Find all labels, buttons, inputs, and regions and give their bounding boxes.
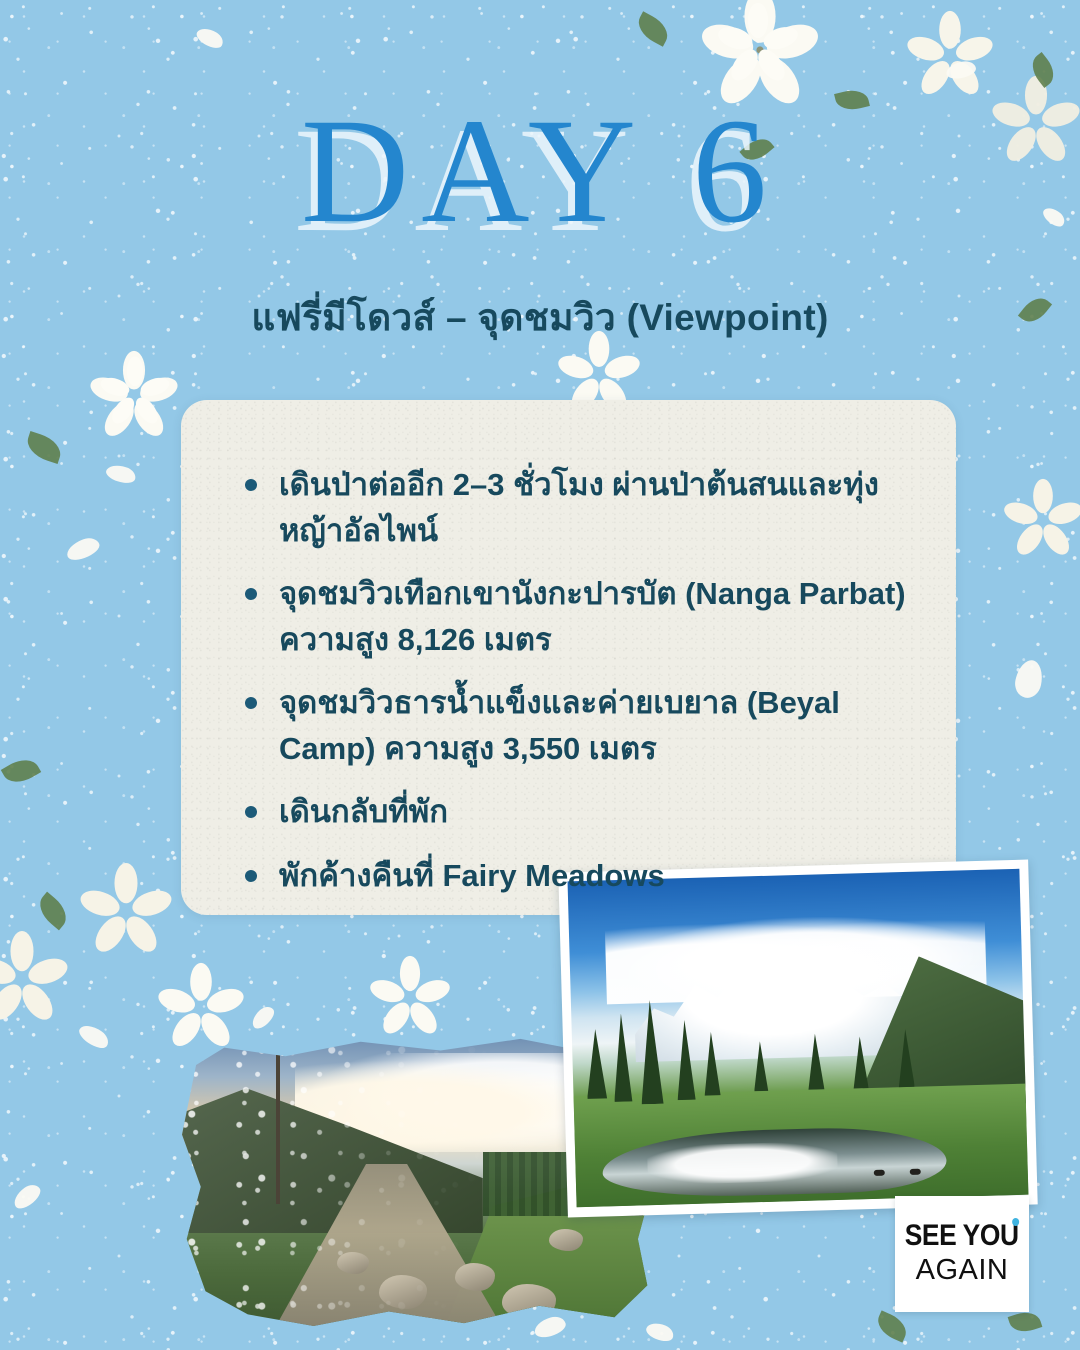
petal-icon xyxy=(248,1003,277,1032)
bare-tree xyxy=(276,1053,280,1204)
brand-logo: SEE YOU AGAIN xyxy=(895,1196,1029,1312)
petal-icon xyxy=(76,1021,112,1053)
petal-icon xyxy=(10,1181,44,1212)
petal-icon xyxy=(64,535,102,564)
leaf-icon xyxy=(1,753,41,789)
nanga-parbat-photo xyxy=(558,860,1037,1218)
grazing-animal xyxy=(874,1170,885,1176)
rock xyxy=(337,1252,369,1274)
list-item: พักค้างคืนที่ Fairy Meadows xyxy=(239,853,916,899)
accent-dot-icon xyxy=(1013,1218,1020,1226)
flower-icon xyxy=(905,10,995,100)
list-item-label: เดินป่าต่ออีก 2–3 ชั่วโมง ผ่านป่าต้นสนแล… xyxy=(279,467,879,548)
itinerary-list: เดินป่าต่ออีก 2–3 ชั่วโมง ผ่านป่าต้นสนแล… xyxy=(181,400,956,899)
flower-icon xyxy=(1002,478,1080,560)
bullet-icon xyxy=(245,870,257,882)
lake-reflection xyxy=(647,1141,838,1185)
list-item: จุดชมวิวเทือกเขานังกะปารบัต (Nanga Parba… xyxy=(239,571,916,662)
leaf-icon xyxy=(873,1310,911,1342)
flower-icon xyxy=(156,962,246,1052)
pine-tree xyxy=(612,1013,632,1101)
petal-icon xyxy=(644,1319,676,1344)
list-item-label: พักค้างคืนที่ Fairy Meadows xyxy=(279,858,665,893)
petal-icon xyxy=(532,1314,568,1340)
nanga-parbat-photo-image xyxy=(568,869,1029,1207)
page-subtitle: แฟรี่มีโดวส์ – จุดชมวิว (Viewpoint) xyxy=(0,288,1080,347)
leaf-icon xyxy=(633,11,673,46)
petal-icon xyxy=(104,462,137,486)
logo-line-1: SEE YOU xyxy=(905,1221,1019,1251)
flower-icon xyxy=(88,350,180,442)
petal-icon xyxy=(194,24,226,52)
leaf-icon xyxy=(1026,52,1060,88)
list-item: จุดชมวิวธารน้ำแข็งและค่ายเบยาล (Beyal Ca… xyxy=(239,680,916,771)
itinerary-card: เดินป่าต่ออีก 2–3 ชั่วโมง ผ่านป่าต้นสนแล… xyxy=(181,400,956,915)
flower-icon xyxy=(716,2,800,86)
bullet-icon xyxy=(245,697,257,709)
logo-line-2: AGAIN xyxy=(916,1254,1009,1286)
flower-icon xyxy=(98,355,172,429)
list-item: เดินกลับที่พัก xyxy=(239,789,916,835)
list-item: เดินป่าต่ออีก 2–3 ชั่วโมง ผ่านป่าต้นสนแล… xyxy=(239,462,916,553)
flower-icon xyxy=(0,930,70,1026)
leaf-icon xyxy=(1008,1308,1043,1336)
rock xyxy=(379,1275,427,1309)
rock xyxy=(502,1284,556,1320)
bullet-icon xyxy=(245,806,257,818)
leaf-icon xyxy=(33,892,73,931)
logo-line-1-label: SEE YOU xyxy=(905,1219,1019,1252)
bullet-icon xyxy=(245,588,257,600)
bullet-icon xyxy=(245,479,257,491)
list-item-label: จุดชมวิวเทือกเขานังกะปารบัต (Nanga Parba… xyxy=(279,576,906,657)
page-title: DAY 6 xyxy=(0,96,1080,246)
rock xyxy=(549,1229,583,1251)
petal-icon xyxy=(1012,658,1045,701)
flower-icon xyxy=(368,955,452,1039)
leaf-icon xyxy=(23,431,64,464)
petal-icon xyxy=(945,60,977,81)
flower-icon xyxy=(78,862,174,958)
list-item-label: เดินกลับที่พัก xyxy=(279,794,448,829)
pine-tree xyxy=(585,1029,607,1100)
list-item-label: จุดชมวิวธารน้ำแข็งและค่ายเบยาล (Beyal Ca… xyxy=(279,685,840,766)
